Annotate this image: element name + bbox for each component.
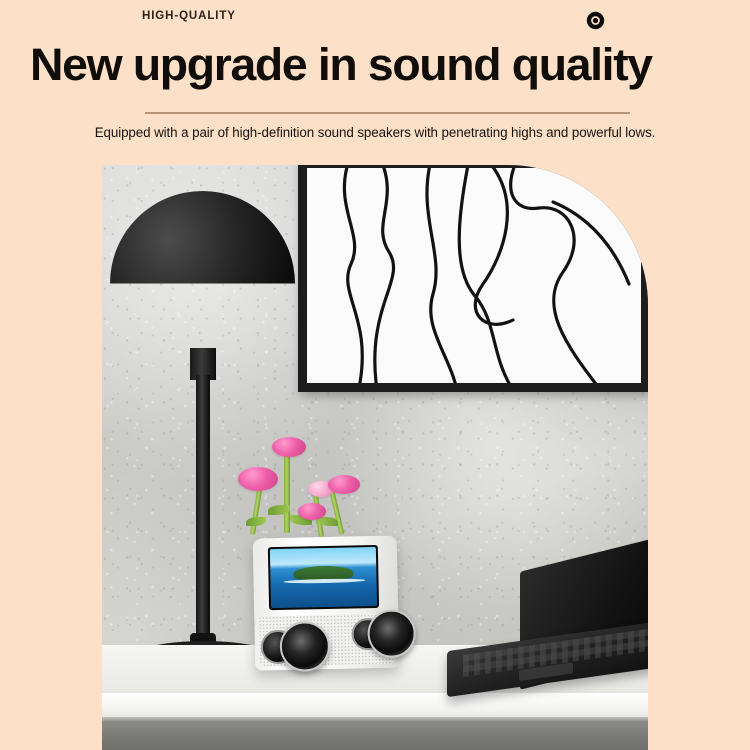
device-screen xyxy=(268,545,379,610)
eyebrow-label: HIGH-QUALITY xyxy=(142,10,236,22)
page-title: New upgrade in sound quality xyxy=(30,36,750,94)
product-banner: HIGH-QUALITY New upgrade in sound qualit… xyxy=(0,0,750,750)
title-divider xyxy=(145,112,630,114)
screen-wallpaper-island xyxy=(270,547,377,608)
desk-under-shadow xyxy=(102,721,648,750)
lamp-stem xyxy=(196,375,210,650)
subtitle-text: Equipped with a pair of high-definition … xyxy=(0,125,750,140)
framed-poster xyxy=(298,165,648,392)
speaker-device xyxy=(253,536,400,671)
vinyl-record-icon xyxy=(586,11,605,30)
product-photo xyxy=(102,165,648,750)
poster-mat xyxy=(307,168,641,383)
abstract-line-art-icon xyxy=(307,168,641,383)
